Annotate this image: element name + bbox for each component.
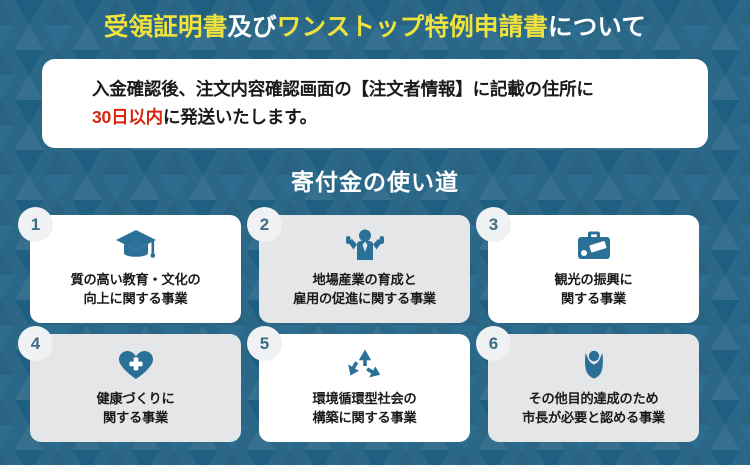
- usage-card-5-label-line-1: 環境循環型社会の: [313, 391, 417, 406]
- usage-card-5-label: 環境循環型社会の 構築に関する事業: [313, 390, 417, 427]
- usage-card-6-label: その他目的達成のため 市長が必要と認める事業: [522, 390, 665, 427]
- usage-card-6-label-line-1: その他目的達成のため: [529, 391, 659, 406]
- usage-card-1-label-line-2: 向上に関する事業: [71, 290, 201, 309]
- usage-card-2-label-line-2: 雇用の促進に関する事業: [293, 290, 436, 309]
- page-title-segment-3: ワンストップ特例申請書: [277, 14, 548, 41]
- notice-line-2: 30日以内に発送いたします。: [92, 103, 708, 131]
- usage-card-4-label-line-1: 健康づくりに: [97, 391, 175, 406]
- usage-card-2[interactable]: 2 地場産業の育成と 雇用の促進に関する事業: [259, 215, 470, 323]
- page-root: 受領証明書及びワンストップ特例申請書について 入金確認後、注文内容確認画面の【注…: [0, 0, 750, 465]
- person-in-hands-icon: [573, 346, 615, 384]
- suitcase-icon: [573, 227, 615, 265]
- page-header: 受領証明書及びワンストップ特例申請書について: [0, 0, 750, 56]
- usage-card-4-label: 健康づくりに 関する事業: [97, 390, 175, 427]
- usage-card-1-label-line-1: 質の高い教育・文化の: [71, 272, 201, 287]
- usage-card-1-label: 質の高い教育・文化の 向上に関する事業: [71, 271, 201, 308]
- usage-card-1-number-badge: 1: [18, 207, 53, 242]
- usage-card-2-label-line-1: 地場産業の育成と: [313, 272, 417, 287]
- notice-deadline-highlight: 30日以内: [92, 107, 163, 127]
- page-title-segment-4: について: [548, 14, 646, 41]
- usage-card-1[interactable]: 1 質の高い教育・文化の 向上に関する事業: [30, 215, 241, 323]
- usage-card-4-number-badge: 4: [18, 326, 53, 361]
- usage-card-3-label: 観光の振興に 関する事業: [555, 271, 633, 308]
- usage-card-5[interactable]: 5 環境循環型社会の 構築に関する事業: [259, 334, 470, 442]
- usage-card-4-label-line-2: 関する事業: [97, 409, 175, 428]
- shipping-notice-card: 入金確認後、注文内容確認画面の【注文者情報】に記載の住所に 30日以内に発送いた…: [42, 59, 708, 148]
- usage-card-3[interactable]: 3 観光の振興に 関する事業: [488, 215, 699, 323]
- usage-card-3-label-line-1: 観光の振興に: [555, 272, 633, 287]
- usage-card-6-label-line-2: 市長が必要と認める事業: [522, 409, 665, 428]
- usage-card-2-number-badge: 2: [247, 207, 282, 242]
- usage-card-5-label-line-2: 構築に関する事業: [313, 409, 417, 428]
- usage-card-3-label-line-2: 関する事業: [555, 290, 633, 309]
- usage-card-4[interactable]: 4 健康づくりに 関する事業: [30, 334, 241, 442]
- donation-usage-card-grid: 1 質の高い教育・文化の 向上に関する事業 2: [30, 215, 720, 442]
- usage-card-6[interactable]: 6 その他目的達成のため 市長が必要と認める事業: [488, 334, 699, 442]
- graduation-cap-icon: [115, 227, 157, 265]
- heart-plus-icon: [115, 346, 157, 384]
- page-title-segment-2: 及び: [227, 14, 276, 41]
- notice-line-2-rest: に発送いたします。: [163, 107, 317, 127]
- page-title-segment-1: 受領証明書: [104, 14, 228, 41]
- recycle-icon: [344, 346, 386, 384]
- section-heading-donation-usage: 寄付金の使い道: [0, 163, 750, 197]
- usage-card-2-label: 地場産業の育成と 雇用の促進に関する事業: [293, 271, 436, 308]
- notice-line-1: 入金確認後、注文内容確認画面の【注文者情報】に記載の住所に: [92, 75, 708, 103]
- person-cheering-icon: [344, 227, 386, 265]
- usage-card-5-number-badge: 5: [247, 326, 282, 361]
- usage-card-3-number-badge: 3: [476, 207, 511, 242]
- usage-card-6-number-badge: 6: [476, 326, 511, 361]
- page-title: 受領証明書及びワンストップ特例申請書について: [104, 16, 646, 41]
